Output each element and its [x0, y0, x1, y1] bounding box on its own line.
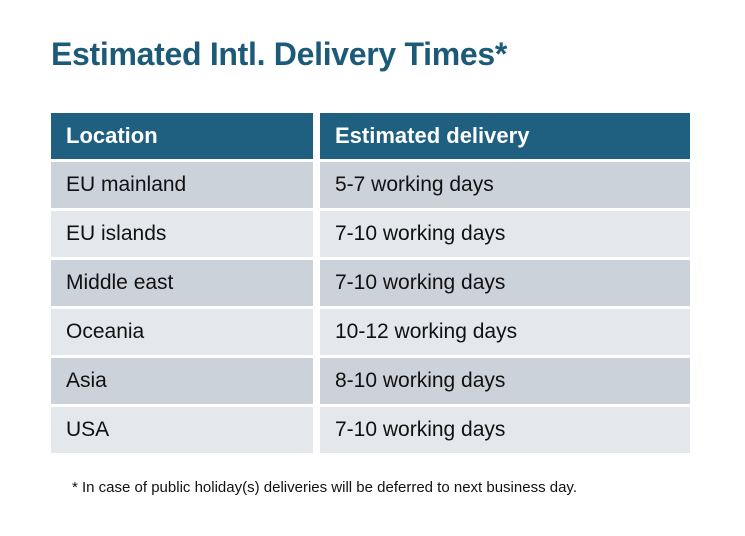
cell-location: USA	[51, 407, 313, 453]
table-row: EU mainland 5-7 working days	[51, 162, 690, 208]
cell-location: Asia	[51, 358, 313, 404]
table-row: Middle east 7-10 working days	[51, 260, 690, 306]
delivery-times-document: Estimated Intl. Delivery Times* Location…	[0, 0, 745, 536]
column-header-location: Location	[51, 113, 313, 159]
cell-estimated-delivery: 7-10 working days	[320, 260, 690, 306]
footnote-text: * In case of public holiday(s) deliverie…	[72, 479, 577, 496]
cell-location: Oceania	[51, 309, 313, 355]
table-row: USA 7-10 working days	[51, 407, 690, 453]
cell-location: EU islands	[51, 211, 313, 257]
table-row: EU islands 7-10 working days	[51, 211, 690, 257]
cell-location: Middle east	[51, 260, 313, 306]
page-title: Estimated Intl. Delivery Times*	[51, 36, 507, 73]
table-header-row: Location Estimated delivery	[51, 113, 690, 159]
cell-estimated-delivery: 7-10 working days	[320, 211, 690, 257]
table-row: Oceania 10-12 working days	[51, 309, 690, 355]
table-row: Asia 8-10 working days	[51, 358, 690, 404]
cell-estimated-delivery: 10-12 working days	[320, 309, 690, 355]
delivery-times-table: Location Estimated delivery EU mainland …	[51, 113, 690, 456]
cell-estimated-delivery: 8-10 working days	[320, 358, 690, 404]
cell-estimated-delivery: 7-10 working days	[320, 407, 690, 453]
column-header-estimated-delivery: Estimated delivery	[320, 113, 690, 159]
cell-estimated-delivery: 5-7 working days	[320, 162, 690, 208]
cell-location: EU mainland	[51, 162, 313, 208]
